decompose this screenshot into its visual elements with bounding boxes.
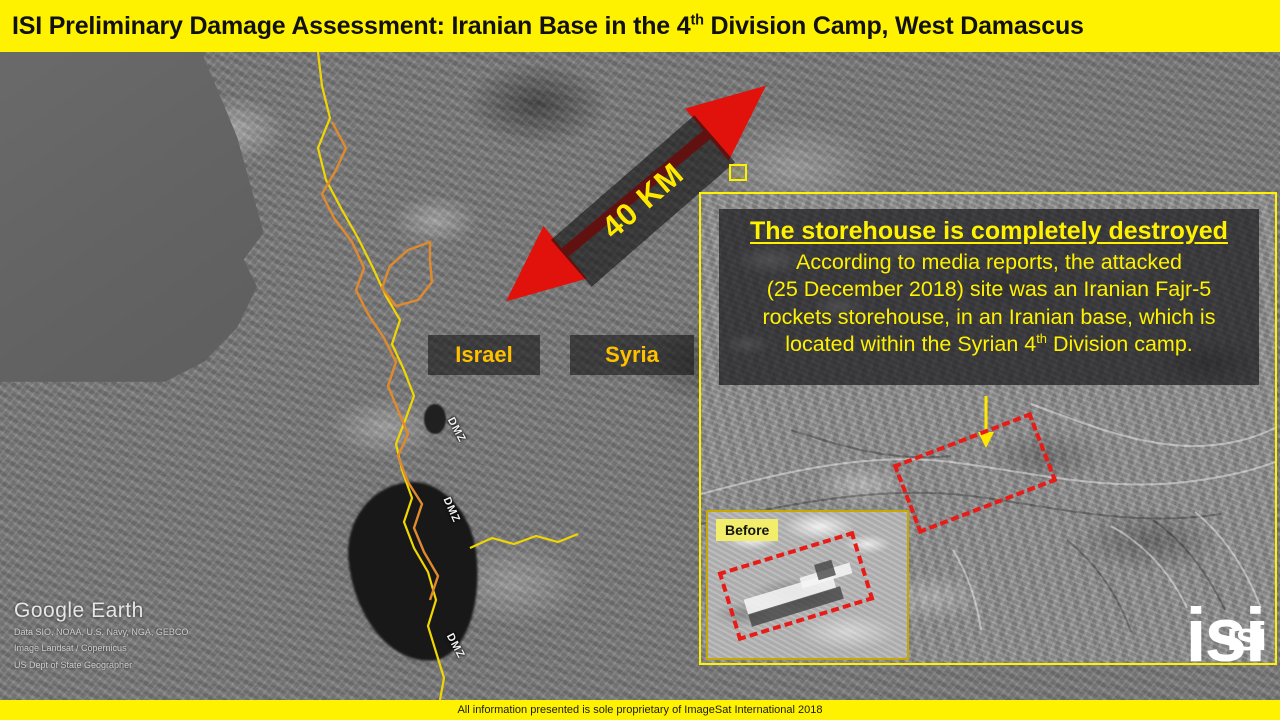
slide-title-bar: ISI Preliminary Damage Assessment: Irani…	[0, 0, 1280, 52]
slide-root: ISI Preliminary Damage Assessment: Irani…	[0, 0, 1280, 720]
attribution-line-3: US Dept of State Geographer	[14, 659, 188, 673]
assessment-body-line-4: located within the Syrian 4th Division c…	[785, 331, 1193, 358]
page-title-suffix: Division Camp, West Damascus	[704, 12, 1084, 40]
google-earth-brand-google: Google	[14, 599, 85, 622]
before-image-label: Before	[716, 519, 778, 541]
copyright-notice: All information presented is sole propri…	[457, 704, 822, 716]
google-earth-brand: Google Earth	[14, 599, 188, 623]
sea-of-galilee	[424, 404, 446, 434]
assessment-body-line-2: (25 December 2018) site was an Iranian F…	[767, 276, 1212, 303]
assessment-body-line-1: According to media reports, the attacked	[796, 249, 1182, 276]
assessment-body-line-4-post: Division camp.	[1047, 332, 1193, 356]
assessment-headline: The storehouse is completely destroyed	[750, 217, 1228, 246]
attribution-line-1: Data SIO, NOAA, U.S. Navy, NGA, GEBCO	[14, 626, 188, 640]
google-earth-brand-earth: Earth	[91, 599, 144, 622]
country-label-israel: Israel	[428, 335, 540, 375]
page-title-ordinal: th	[690, 12, 703, 28]
assessment-body-line-3: rockets storehouse, in an Iranian base, …	[763, 304, 1216, 331]
target-site-marker	[729, 164, 747, 181]
satellite-map: DMZ DMZ DMZ 40 KM Israel Syria	[0, 52, 1280, 700]
country-label-syria: Syria	[570, 335, 694, 375]
isi-logo-main: isi	[1186, 598, 1265, 674]
page-title: ISI Preliminary Damage Assessment: Irani…	[12, 12, 1084, 41]
slide-footer: All information presented is sole propri…	[0, 700, 1280, 720]
page-title-prefix: ISI Preliminary Damage Assessment: Irani…	[12, 12, 690, 40]
before-image-inset: Before	[706, 510, 909, 660]
assessment-body-line-4-ordinal: th	[1036, 331, 1047, 346]
google-earth-attribution: Google Earth Data SIO, NOAA, U.S. Navy, …	[14, 599, 188, 673]
attribution-line-2: Image Landsat / Copernicus	[14, 642, 188, 656]
assessment-body-line-4-pre: located within the Syrian 4	[785, 332, 1036, 356]
assessment-text-block: The storehouse is completely destroyed A…	[719, 209, 1259, 385]
